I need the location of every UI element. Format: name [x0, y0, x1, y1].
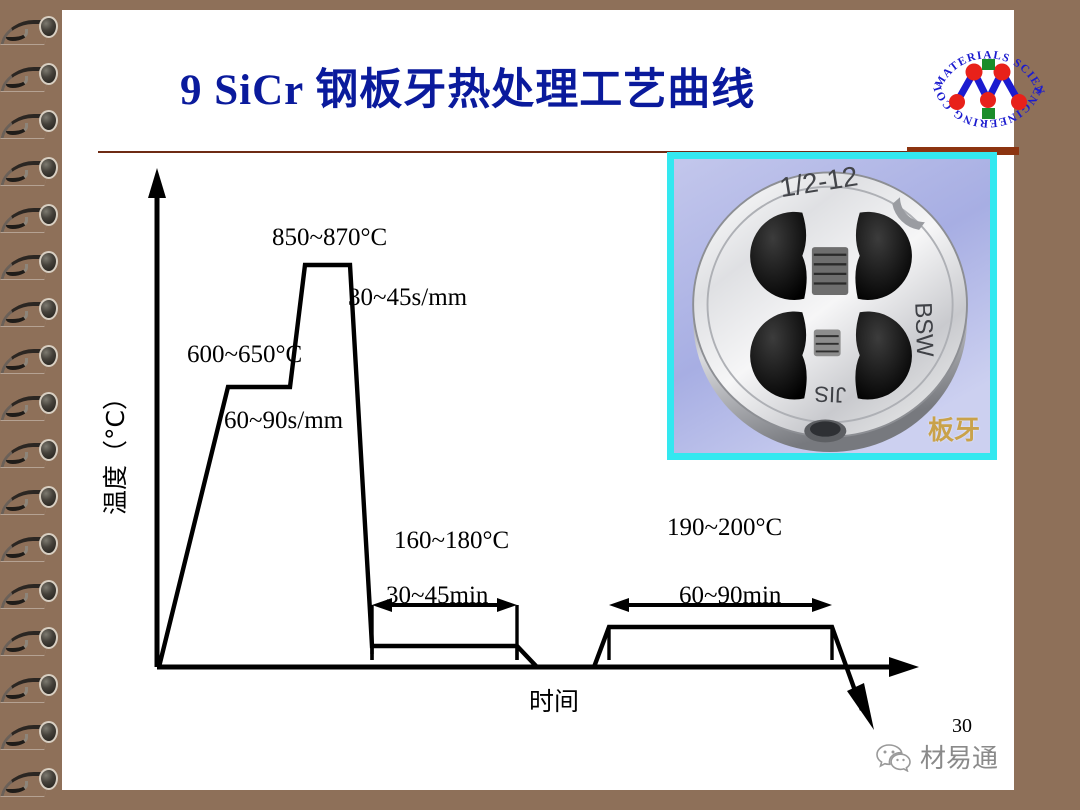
y-axis-label: 温度（°C） — [101, 385, 130, 515]
preheat-temperature-label: 600~650°C — [187, 341, 302, 368]
binding-ring — [4, 108, 58, 144]
austenitize-temperature-label: 850~870°C — [272, 224, 387, 251]
spiral-binding — [0, 0, 62, 810]
binding-ring — [4, 155, 58, 191]
slide-page: 9 SiCr 钢板牙热处理工艺曲线 MATERIALS SCIENCE & EN… — [62, 10, 1014, 790]
binding-ring — [4, 249, 58, 285]
binding-ring — [4, 296, 58, 332]
binding-ring — [4, 578, 58, 614]
binding-ring — [4, 766, 58, 802]
temper2-temperature-label: 190~200°C — [667, 514, 782, 541]
binding-ring — [4, 531, 58, 567]
binding-ring — [4, 484, 58, 520]
binding-ring — [4, 202, 58, 238]
binding-ring — [4, 61, 58, 97]
binding-ring — [4, 343, 58, 379]
wechat-account-name: 材易通 — [920, 738, 998, 775]
college-logo: MATERIALS SCIENCE & ENGINEERING COLLEGE … — [924, 22, 1052, 140]
binding-ring — [4, 14, 58, 50]
page-title: 9 SiCr 钢板牙热处理工艺曲线 — [180, 55, 755, 117]
binding-ring — [4, 719, 58, 755]
process-curve — [159, 265, 862, 710]
college-logo-icon: MATERIALS SCIENCE & ENGINEERING COLLEGE … — [924, 22, 1052, 140]
y-axis — [148, 168, 166, 667]
final-cooling-arrow — [847, 683, 874, 730]
preheat-rate-label: 60~90s/mm — [224, 407, 344, 434]
binding-ring — [4, 625, 58, 661]
wechat-account-mark: 材易通 — [875, 738, 998, 775]
binding-ring — [4, 672, 58, 708]
wechat-icon — [875, 742, 913, 772]
temper1-time-label: 30~45min — [386, 582, 489, 609]
austenitize-rate-label: 30~45s/mm — [348, 284, 468, 311]
title-block: 9 SiCr 钢板牙热处理工艺曲线 — [62, 10, 1014, 150]
temper1-temperature-label: 160~180°C — [394, 527, 509, 554]
temper2-time-label: 60~90min — [679, 582, 782, 609]
heat-treatment-curve-chart: 600~650°C 60~90s/mm 850~870°C 30~45s/mm … — [62, 150, 1014, 750]
page-number: 30 — [952, 715, 972, 738]
logo-m-graphic — [949, 64, 1027, 111]
binding-ring — [4, 437, 58, 473]
x-axis-label: 时间 — [529, 687, 579, 716]
binding-ring — [4, 390, 58, 426]
